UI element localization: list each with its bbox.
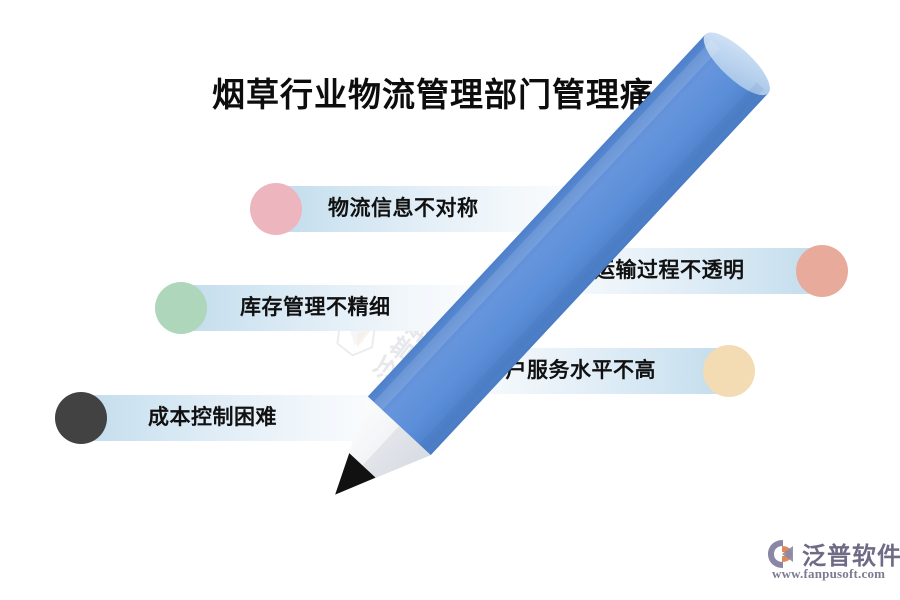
pain-point-row-1[interactable]: 物流信息不对称 bbox=[250, 186, 595, 232]
pain-point-dot-pink bbox=[250, 183, 302, 235]
pain-point-dot-green bbox=[155, 282, 207, 334]
page-title: 烟草行业物流管理部门管理痛点 bbox=[0, 68, 900, 116]
pain-point-label-2: 运输过程不透明 bbox=[594, 248, 745, 294]
brand-logo[interactable]: 泛普软件 www.fanpusoft.com bbox=[766, 536, 892, 588]
pain-point-row-3[interactable]: 库存管理不精细 bbox=[155, 285, 500, 331]
pain-point-dot-tan bbox=[703, 345, 755, 397]
pain-point-row-5[interactable]: 成本控制困难 bbox=[55, 395, 405, 441]
pain-point-label-5: 成本控制困难 bbox=[148, 395, 277, 441]
pain-point-dot-dark bbox=[55, 392, 107, 444]
pain-point-label-4: 客户服务水平不高 bbox=[484, 348, 656, 394]
pain-point-label-3: 库存管理不精细 bbox=[240, 285, 391, 331]
pain-point-dot-salmon bbox=[796, 245, 848, 297]
pain-point-row-4[interactable]: 客户服务水平不高 bbox=[420, 348, 755, 394]
pain-point-row-2[interactable]: 运输过程不透明 bbox=[500, 248, 848, 294]
infographic-canvas: 烟草行业物流管理部门管理痛点 泛普软件 SOFTWARE 物流信息不对称 运输过… bbox=[0, 0, 900, 600]
pain-point-label-1: 物流信息不对称 bbox=[328, 186, 479, 232]
logo-url: www.fanpusoft.com bbox=[772, 566, 885, 582]
